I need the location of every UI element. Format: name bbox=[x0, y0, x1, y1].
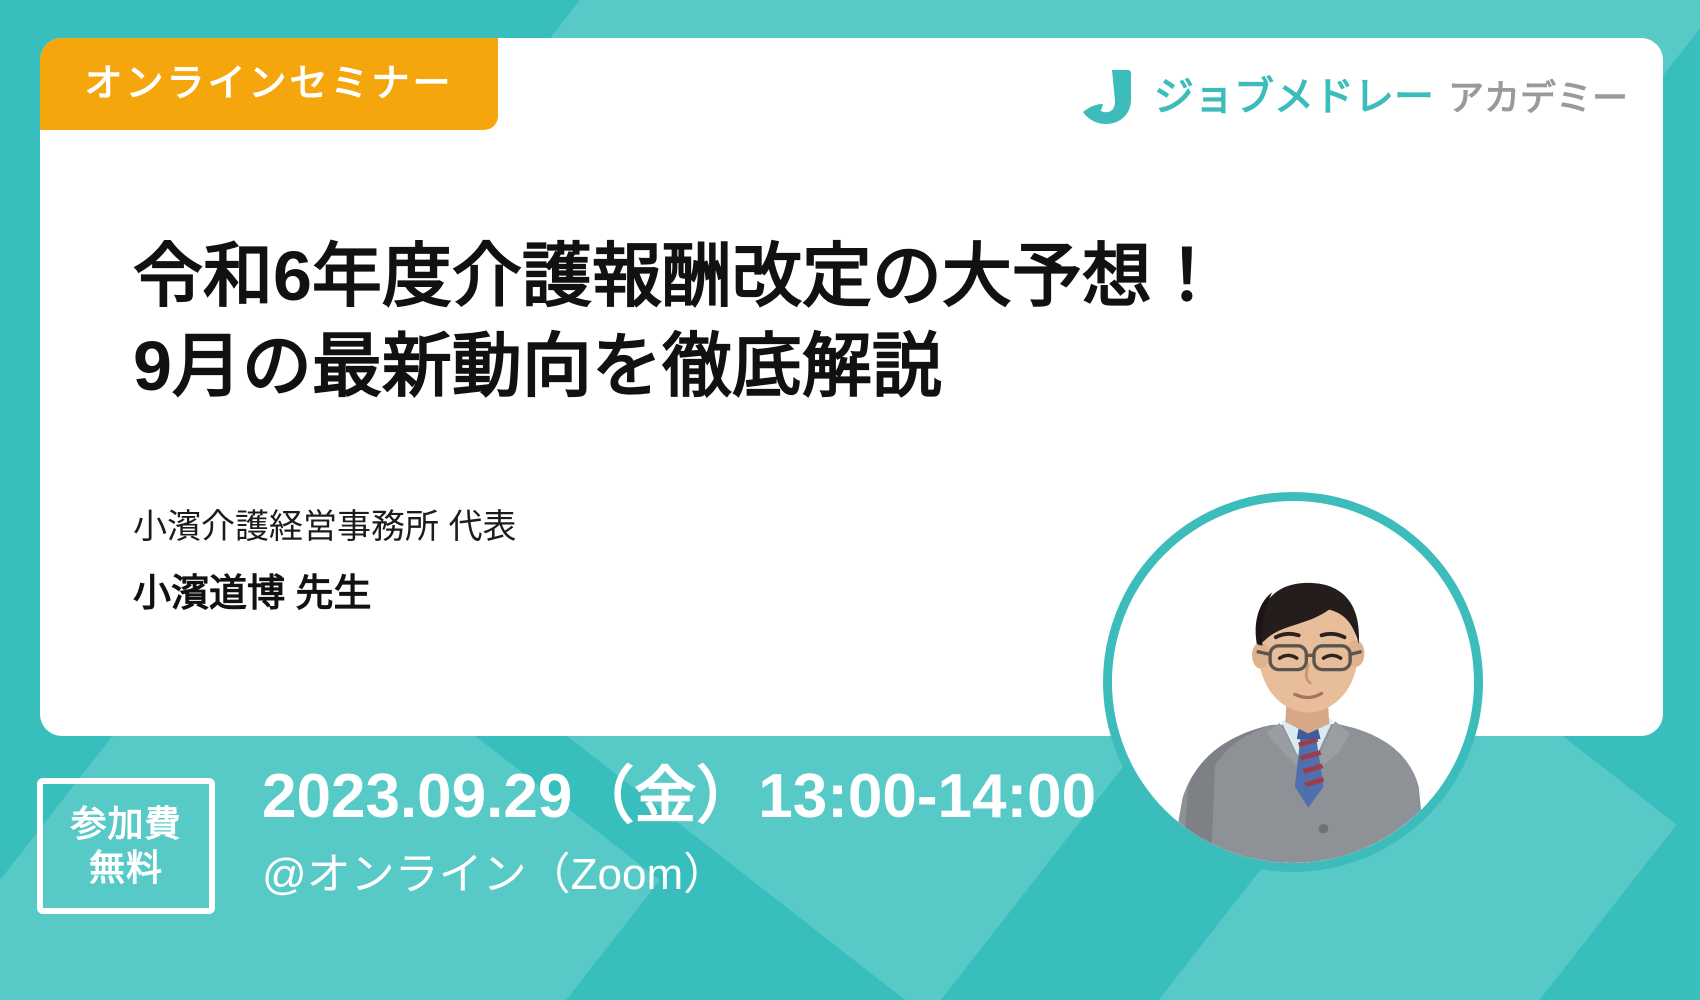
brand-logo: ジョブメドレー アカデミー bbox=[1078, 66, 1628, 128]
speaker-name: 小濱道博 先生 bbox=[133, 569, 516, 620]
event-date-time: 2023.09.29（金）13:00-14:00 bbox=[262, 758, 1096, 836]
seminar-type-badge: オンラインセミナー bbox=[40, 38, 498, 130]
seminar-banner: オンラインセミナー ジョブメドレー アカデミー 令和6年度介護報酬改定の大予想！… bbox=[0, 0, 1700, 1000]
fee-badge: 参加費 無料 bbox=[37, 778, 215, 914]
seminar-title-line-2: 9月の最新動向を徹底解説 bbox=[133, 322, 1283, 412]
brand-logo-primary: ジョブメドレー bbox=[1154, 77, 1434, 117]
seminar-title: 令和6年度介護報酬改定の大予想！ 9月の最新動向を徹底解説 bbox=[133, 232, 1283, 411]
jobmedley-j-swoosh-icon bbox=[1078, 68, 1138, 126]
brand-logo-text: ジョブメドレー アカデミー bbox=[1154, 77, 1628, 117]
event-location: @オンライン（Zoom） bbox=[262, 846, 1096, 903]
fee-value: 無料 bbox=[89, 849, 163, 887]
brand-logo-secondary: アカデミー bbox=[1448, 80, 1628, 116]
speaker-info: 小濱介護経営事務所 代表 小濱道博 先生 bbox=[133, 505, 516, 620]
seminar-type-badge-label: オンラインセミナー bbox=[84, 65, 453, 103]
event-schedule: 2023.09.29（金）13:00-14:00 @オンライン（Zoom） bbox=[262, 758, 1096, 903]
event-details-bar: 参加費 無料 2023.09.29（金）13:00-14:00 @オンライン（Z… bbox=[0, 736, 1700, 1000]
seminar-title-line-1: 令和6年度介護報酬改定の大予想！ bbox=[133, 232, 1283, 322]
fee-label: 参加費 bbox=[70, 805, 181, 843]
speaker-organization: 小濱介護経営事務所 代表 bbox=[133, 505, 516, 551]
